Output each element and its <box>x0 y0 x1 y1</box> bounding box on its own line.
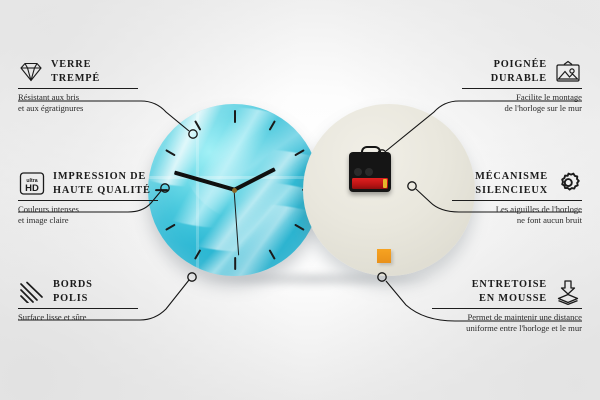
press-down-layer-icon <box>554 279 582 305</box>
clock-back-view <box>303 104 475 276</box>
feature-divider <box>18 308 138 309</box>
feature-title-line2: DURABLE <box>491 72 547 86</box>
feature-header: MÉCANISME SILENCIEUX <box>452 170 582 197</box>
feature-desc-line1: Résistant aux bris <box>18 92 138 103</box>
feature-title-line2: EN MOUSSE <box>472 292 547 306</box>
feature-header: POIGNÉE DURABLE <box>462 58 582 85</box>
clock-front-view <box>148 104 320 276</box>
feature-verre-trempe: VERRE TREMPÉ Résistant aux bris et aux é… <box>18 58 138 115</box>
feature-header: ENTRETOISE EN MOUSSE <box>432 278 582 305</box>
feature-mecanisme-silencieux: MÉCANISME SILENCIEUX Les aiguilles de l'… <box>452 170 582 227</box>
feature-desc-line1: Facilite le montage <box>462 92 582 103</box>
feature-header: VERRE TREMPÉ <box>18 58 138 85</box>
feature-desc-line1: Surface lisse et sûre <box>18 312 138 323</box>
feature-divider <box>452 200 582 201</box>
feature-header: BORDS POLIS <box>18 278 138 305</box>
feature-title-line1: POIGNÉE <box>491 58 547 72</box>
feature-title-line1: ENTRETOISE <box>472 278 547 292</box>
feature-desc-line1: Les aiguilles de l'horloge <box>452 204 582 215</box>
feature-divider <box>18 200 158 201</box>
feature-title-line2: POLIS <box>53 292 93 306</box>
feature-impression-haute-qualite: ultra HD IMPRESSION DE HAUTE QUALITÉ Cou… <box>18 170 158 227</box>
feature-desc-line2: et image claire <box>18 215 158 226</box>
ultra-hd-icon: ultra HD <box>18 171 46 196</box>
foam-spacer <box>377 249 391 263</box>
hour-marker <box>234 257 236 270</box>
feature-title-line1: VERRE <box>51 58 100 72</box>
feature-title-line2: TREMPÉ <box>51 72 100 86</box>
feature-desc-line2: de l'horloge sur le mur <box>462 103 582 114</box>
gear-icon <box>555 171 582 197</box>
diamond-icon <box>18 61 44 83</box>
feature-title-line1: MÉCANISME <box>475 170 548 184</box>
feature-header: ultra HD IMPRESSION DE HAUTE QUALITÉ <box>18 170 158 197</box>
hand-cap <box>232 188 237 193</box>
battery <box>352 178 388 189</box>
quartz-movement <box>349 152 391 192</box>
feature-desc-line1: Couleurs intenses <box>18 204 158 215</box>
feature-title-line1: BORDS <box>53 278 93 292</box>
feature-desc-line2: uniforme entre l'horloge et le mur <box>432 323 582 334</box>
feature-divider <box>18 88 138 89</box>
feature-divider <box>462 88 582 89</box>
feature-title-line2: SILENCIEUX <box>475 184 548 198</box>
feature-poignee-durable: POIGNÉE DURABLE Facilite le montage de l… <box>462 58 582 115</box>
hanging-frame-icon <box>554 60 582 84</box>
feature-desc-line2: ne font aucun bruit <box>452 215 582 226</box>
feature-bords-polis: BORDS POLIS Surface lisse et sûre <box>18 278 138 323</box>
movement-dial <box>354 168 362 176</box>
feature-title-line2: HAUTE QUALITÉ <box>53 184 151 198</box>
feature-entretoise-en-mousse: ENTRETOISE EN MOUSSE Permet de maintenir… <box>432 278 582 335</box>
feature-desc-line2: et aux égratignures <box>18 103 138 114</box>
feature-title-line1: IMPRESSION DE <box>53 170 151 184</box>
movement-dial <box>365 168 373 176</box>
diagonal-lines-icon <box>18 281 46 303</box>
battery-terminal <box>383 179 387 188</box>
ultra-hd-main-label: HD <box>25 183 39 194</box>
feature-desc-line1: Permet de maintenir une distance <box>432 312 582 323</box>
hour-marker <box>234 110 236 123</box>
feature-divider <box>432 308 582 309</box>
infographic-canvas: VERRE TREMPÉ Résistant aux bris et aux é… <box>0 0 600 400</box>
